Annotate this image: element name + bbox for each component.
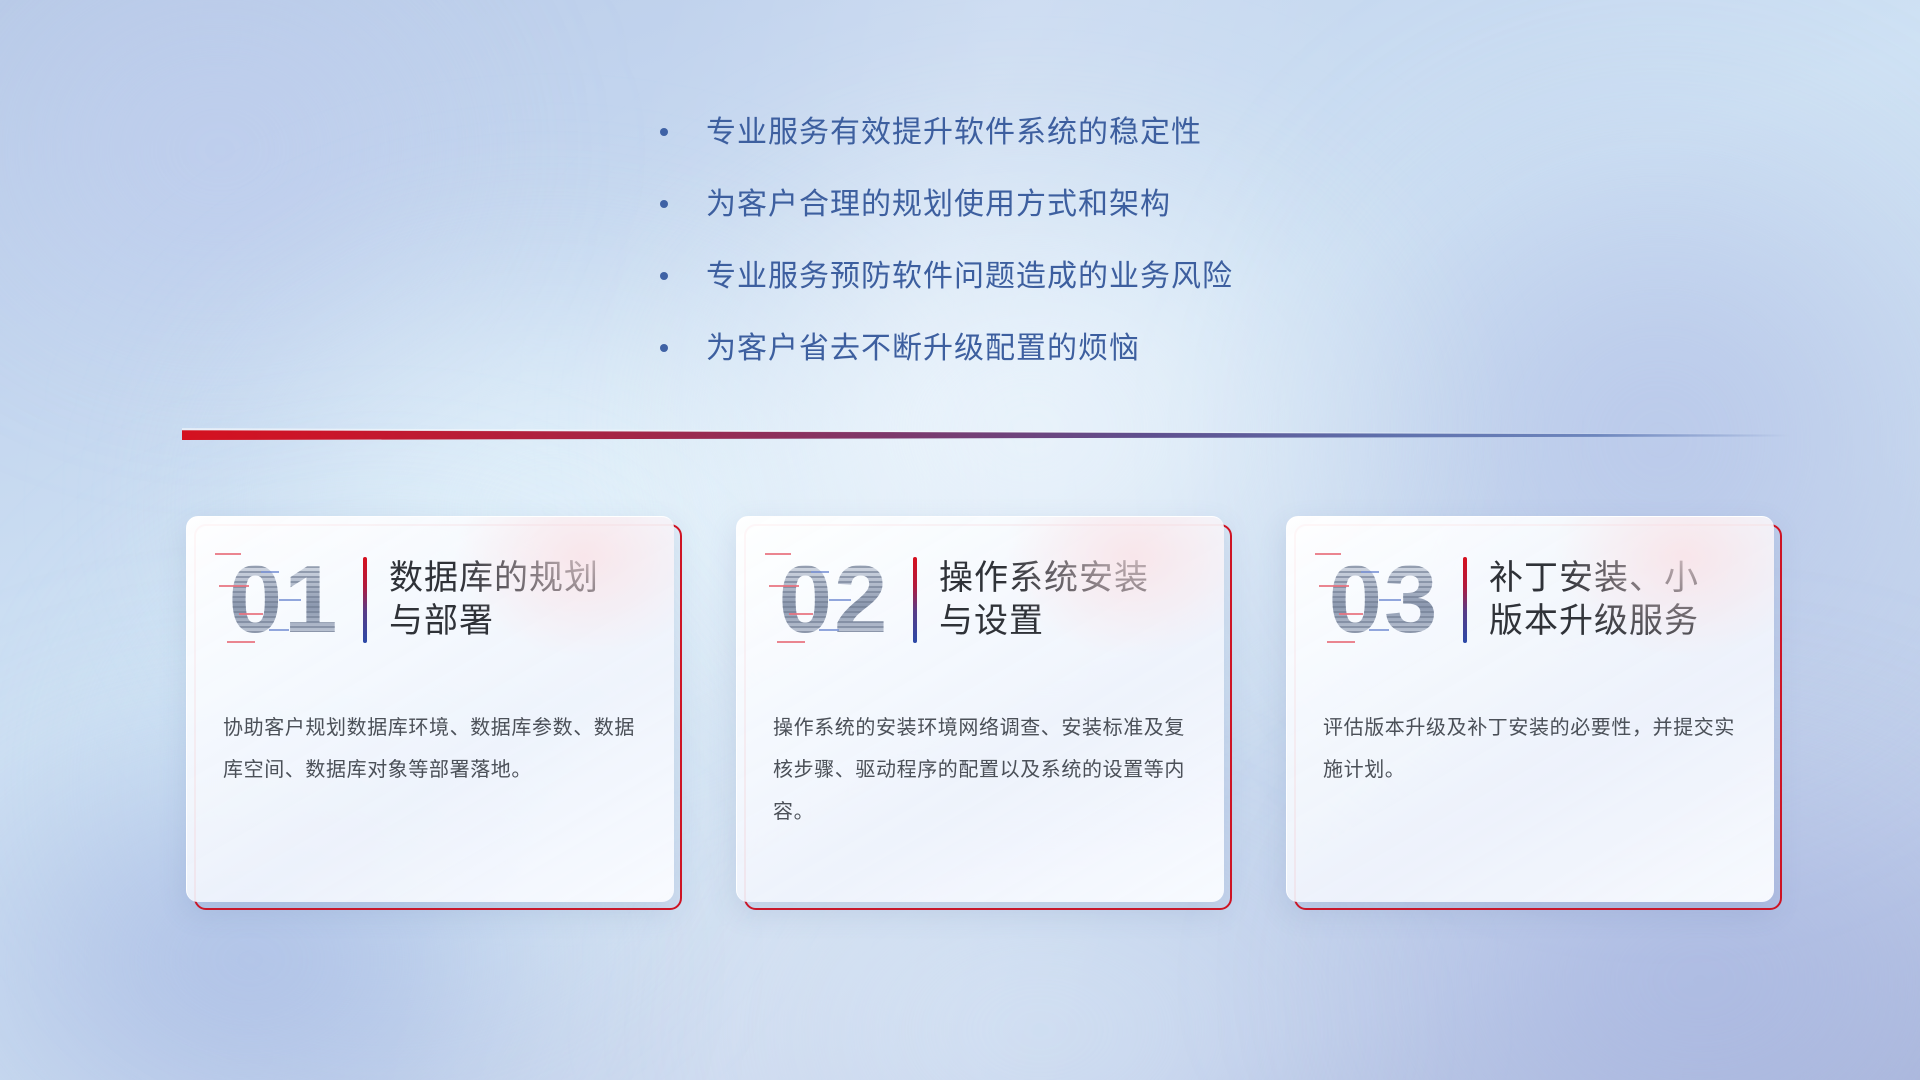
card-accent-bar [363,557,367,643]
card-title-line-2: 版本升级服务 [1489,600,1699,643]
service-card[interactable]: 03 补丁安装、小 版本升级服务 评估版本升级及补丁安装的必要性，并提交实施计划… [1286,516,1774,902]
bullet-text: 为客户省去不断升级配置的烦恼 [706,331,1140,367]
card-title-line-1: 操作系统安装 [939,557,1149,600]
card-title-line-2: 与设置 [939,600,1149,643]
card-title-line-1: 数据库的规划 [389,557,599,600]
card-title-line-2: 与部署 [389,600,599,643]
section-divider [182,424,1790,440]
card-header: 03 补丁安装、小 版本升级服务 [1287,537,1774,663]
card-number-watermark: 02 [759,537,909,663]
slide-canvas: 专业服务有效提升软件系统的稳定性 为客户合理的规划使用方式和架构 专业服务预防软… [0,0,1920,1080]
list-item: 专业服务有效提升软件系统的稳定性 [660,115,1480,151]
card-body-text: 操作系统的安装环境网络调查、安装标准及复核步骤、驱动程序的配置以及系统的设置等内… [773,707,1192,833]
list-item: 为客户省去不断升级配置的烦恼 [660,331,1480,367]
card-title: 操作系统安装 与设置 [939,557,1163,643]
bullet-dot-icon [660,200,668,208]
card-number-watermark: 01 [209,537,359,663]
service-card[interactable]: 01 数据库的规划 与部署 协助客户规划数据库环境、数据库参数、数据库空间、数据… [186,516,674,902]
bullet-text: 为客户合理的规划使用方式和架构 [706,187,1171,223]
card-title: 补丁安装、小 版本升级服务 [1489,557,1713,643]
list-item: 为客户合理的规划使用方式和架构 [660,187,1480,223]
card-accent-bar [913,557,917,643]
card-body-text: 协助客户规划数据库环境、数据库参数、数据库空间、数据库对象等部署落地。 [223,707,642,791]
card-title: 数据库的规划 与部署 [389,557,613,643]
card-surface: 03 补丁安装、小 版本升级服务 评估版本升级及补丁安装的必要性，并提交实施计划… [1286,516,1774,902]
service-card-group: 01 数据库的规划 与部署 协助客户规划数据库环境、数据库参数、数据库空间、数据… [186,516,1774,902]
bullet-dot-icon [660,128,668,136]
card-body-text: 评估版本升级及补丁安装的必要性，并提交实施计划。 [1323,707,1742,791]
card-title-line-1: 补丁安装、小 [1489,557,1699,600]
card-surface: 01 数据库的规划 与部署 协助客户规划数据库环境、数据库参数、数据库空间、数据… [186,516,674,902]
card-accent-bar [1463,557,1467,643]
card-number-watermark: 03 [1309,537,1459,663]
bullet-text: 专业服务预防软件问题造成的业务风险 [706,259,1233,295]
benefit-bullet-list: 专业服务有效提升软件系统的稳定性 为客户合理的规划使用方式和架构 专业服务预防软… [660,115,1480,403]
bullet-dot-icon [660,344,668,352]
bullet-dot-icon [660,272,668,280]
card-surface: 02 操作系统安装 与设置 操作系统的安装环境网络调查、安装标准及复核步骤、驱动… [736,516,1224,902]
list-item: 专业服务预防软件问题造成的业务风险 [660,259,1480,295]
card-header: 01 数据库的规划 与部署 [187,537,674,663]
card-header: 02 操作系统安装 与设置 [737,537,1224,663]
bullet-text: 专业服务有效提升软件系统的稳定性 [706,115,1202,151]
service-card[interactable]: 02 操作系统安装 与设置 操作系统的安装环境网络调查、安装标准及复核步骤、驱动… [736,516,1224,902]
